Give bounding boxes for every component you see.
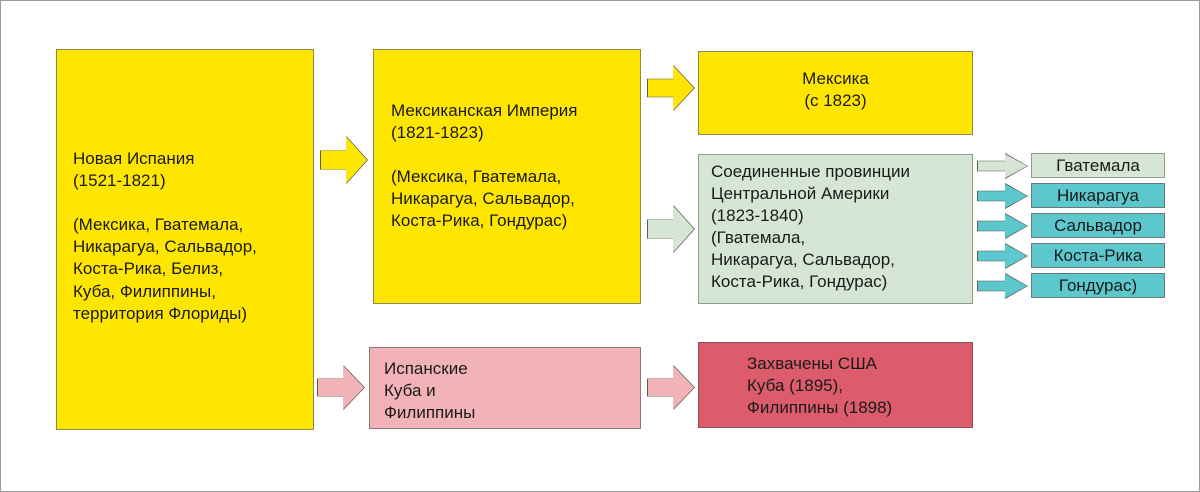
box-spanish-cuba-philippines-text: Испанские Куба и Филиппины <box>384 358 636 424</box>
box-new-spain-text: Новая Испания (1521-1821) (Мексика, Гват… <box>73 148 305 325</box>
box-spanish-cuba-philippines: Испанские Куба и Филиппины <box>369 347 641 429</box>
box-mexico-text: Мексика (с 1823) <box>699 68 972 112</box>
chip-salvador: Сальвадор <box>1031 213 1165 238</box>
box-central-america-text: Соединенные провинции Центральной Америк… <box>711 161 968 294</box>
box-central-america: Соединенные провинции Центральной Америк… <box>698 154 973 304</box>
box-mexico: Мексика (с 1823) <box>698 51 973 135</box>
box-mexican-empire-text: Мексиканская Империя (1821-1823) (Мексик… <box>391 100 634 233</box>
diagram-canvas: Новая Испания (1521-1821) (Мексика, Гват… <box>0 0 1200 492</box>
box-seized-by-usa-text: Захвачены США Куба (1895), Филиппины (18… <box>747 353 968 419</box>
chip-costa-rica: Коста-Рика <box>1031 243 1165 268</box>
box-new-spain: Новая Испания (1521-1821) (Мексика, Гват… <box>56 49 314 430</box>
chip-nicaragua: Никарагуа <box>1031 183 1165 208</box>
chip-guatemala: Гватемала <box>1031 153 1165 178</box>
box-mexican-empire: Мексиканская Империя (1821-1823) (Мексик… <box>373 49 641 304</box>
box-seized-by-usa: Захвачены США Куба (1895), Филиппины (18… <box>698 342 973 428</box>
chip-honduras: Гондурас) <box>1031 273 1165 298</box>
